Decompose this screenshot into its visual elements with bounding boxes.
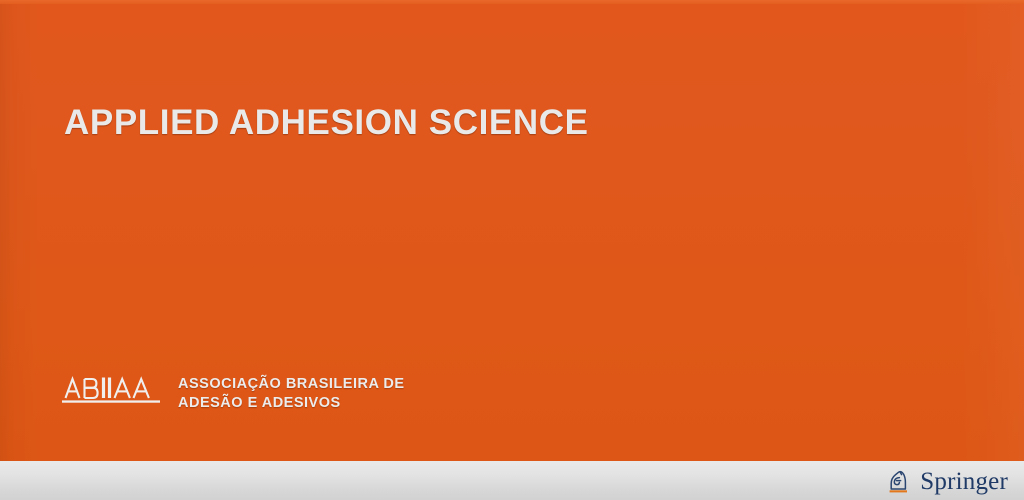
organization-name: ASSOCIAÇÃO BRASILEIRA DE ADESÃO E ADESIV… [178, 375, 405, 413]
springer-knight-icon [884, 468, 912, 494]
page-title: APPLIED ADHESION SCIENCE [64, 103, 589, 143]
footer-bar: Springer [0, 461, 1024, 500]
hero-top-accent-band [0, 0, 1024, 4]
brand-lockup: ASSOCIAÇÃO BRASILEIRA DE ADESÃO E ADESIV… [62, 370, 405, 413]
springer-wordmark: Springer [920, 469, 1008, 494]
springer-logo[interactable]: Springer [884, 468, 1008, 494]
slide-root: APPLIED ADHESION SCIENCE [0, 0, 1024, 500]
organization-name-line2: ADESÃO E ADESIVOS [178, 395, 341, 411]
organization-name-line1: ASSOCIAÇÃO BRASILEIRA DE [178, 376, 405, 392]
abaa-logo-icon [62, 373, 160, 407]
